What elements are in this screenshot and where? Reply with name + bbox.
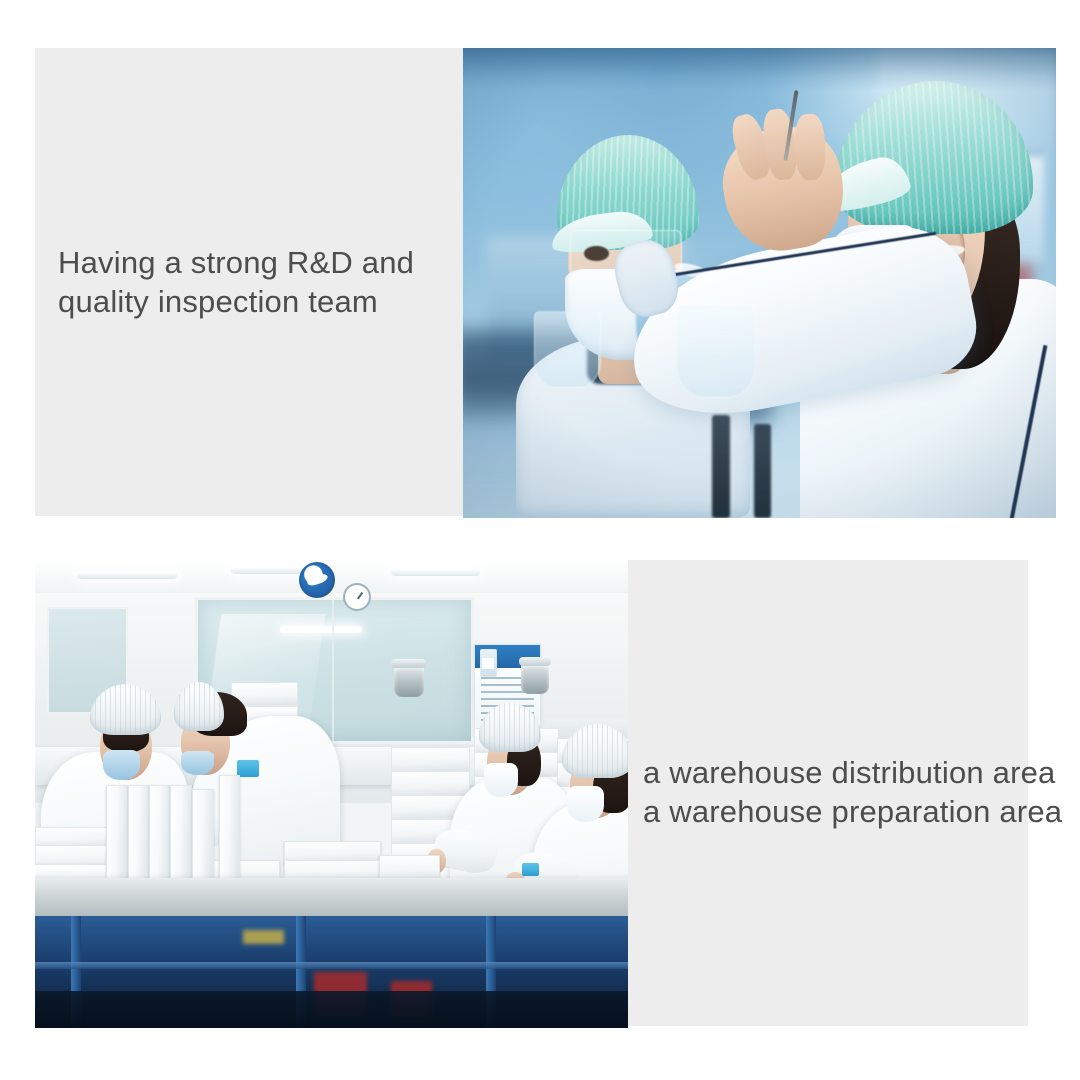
floor-marking [243,930,285,944]
work-table-surface [35,878,628,920]
clock-hand [358,591,364,598]
worker-hairnet [479,703,542,752]
worker-mask [181,751,214,775]
ceiling-light [77,572,178,579]
worker-hairnet [174,682,224,731]
bottom-caption-line-1: a warehouse distribution area [643,753,1062,792]
bottom-caption-line-2: a warehouse preparation area [643,792,1062,831]
carton-upright [219,775,240,885]
lab-quality-inspection-photo [463,48,1056,518]
hairnet-texture [90,684,161,735]
worker-hairnet [90,684,161,735]
poster-canvas: Having a strong R&D and quality inspecti… [0,0,1080,1080]
worker-mask [567,786,604,822]
pot-lid [391,659,426,668]
warehouse-floor [35,991,628,1028]
hairnet-texture [479,703,542,752]
worker-hairnet [562,724,628,778]
warehouse-packing-photo [35,560,628,1028]
carton-upright [149,785,171,885]
worker-mask [103,750,140,780]
hairnet-texture [174,682,224,731]
top-caption-line-2: quality inspection team [58,282,414,321]
pot-lid [519,657,551,666]
stainless-steel-pot [394,665,424,697]
ceiling-light [391,569,480,576]
bottom-caption: a warehouse distribution area a warehous… [643,753,1062,831]
logo-swoosh [306,572,329,587]
worker-badge [522,863,539,876]
window-interior-light [280,626,362,633]
table-cross-rail [35,962,628,969]
carton-upright [192,789,214,885]
carton-upright [170,785,192,885]
hairnet-texture [562,724,628,778]
worker-mask [484,763,518,797]
bottle-label [482,658,494,669]
lab-vignette [463,48,1056,518]
stainless-steel-pot [521,663,549,694]
ceiling-light [231,567,308,574]
carton-upright [128,785,150,885]
company-logo-icon [299,562,335,598]
labeled-bottle [480,649,497,677]
worker-badge [237,760,259,777]
top-caption: Having a strong R&D and quality inspecti… [58,243,414,321]
carton-upright [106,785,128,885]
top-caption-line-1: Having a strong R&D and [58,243,414,282]
